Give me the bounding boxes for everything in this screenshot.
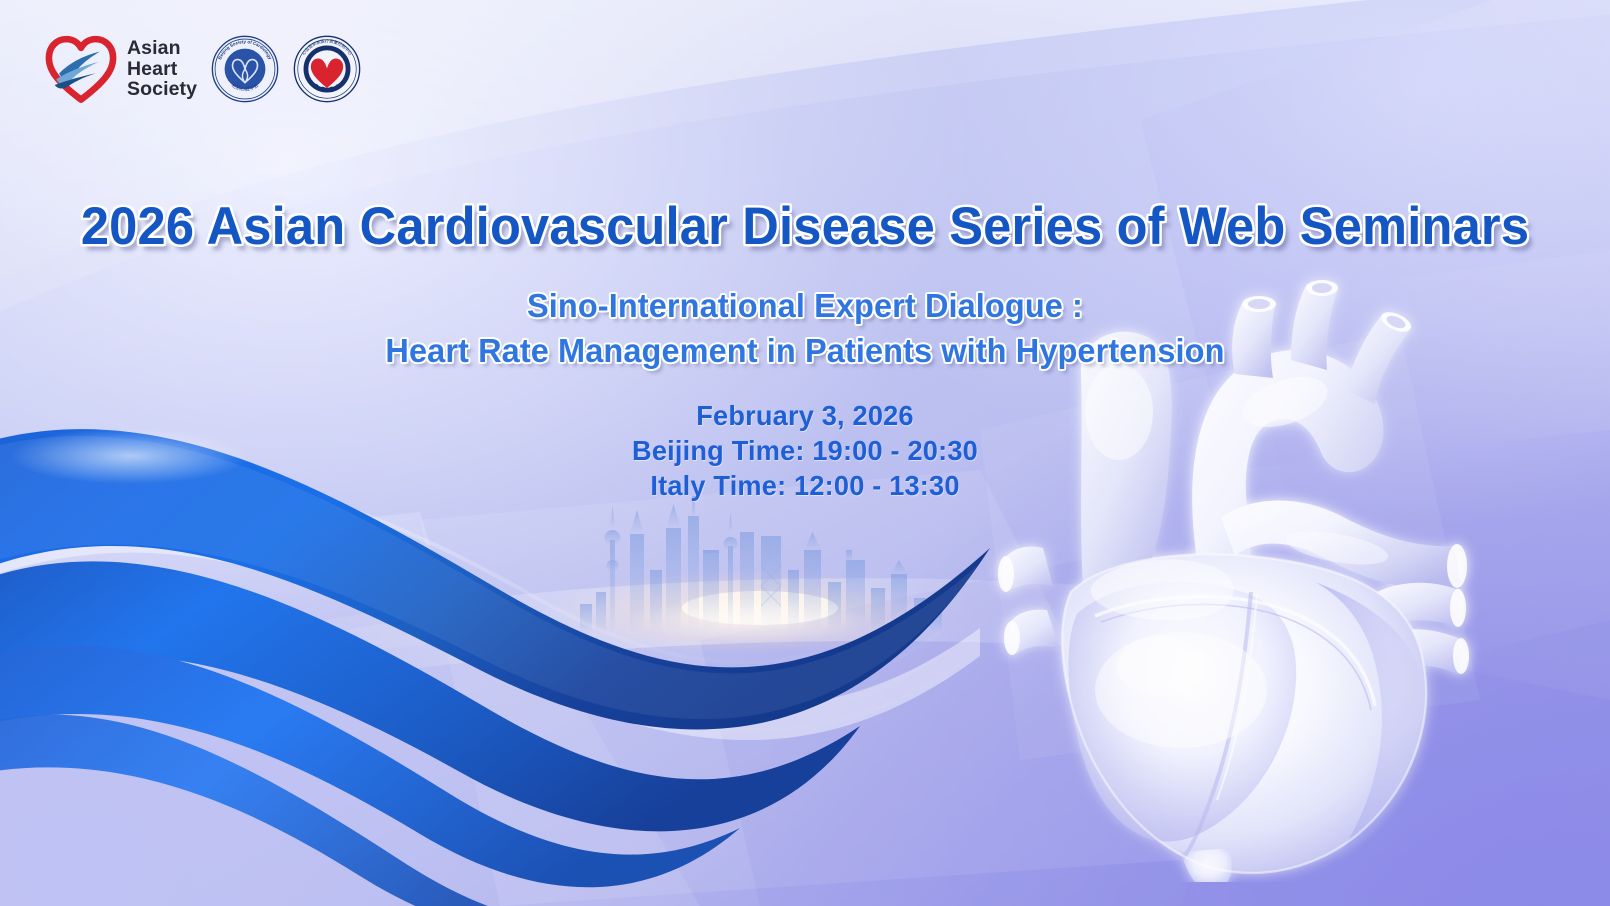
- ahs-line-1: Asian: [127, 38, 197, 59]
- schedule-beijing-time: Beijing Time: 19:00 - 20:30: [24, 433, 1586, 468]
- heart-wave-logo-icon: [44, 34, 118, 104]
- schedule-block: February 3, 2026 Beijing Time: 19:00 - 2…: [24, 398, 1586, 503]
- ahs-line-3: Society: [127, 79, 197, 100]
- schedule-italy-time: Italy Time: 12:00 - 13:30: [24, 468, 1586, 503]
- beijing-society-of-cardiology-icon: Beijing Society of Cardiology 北京心脏学会: [211, 35, 279, 103]
- logo-bar: Asian Heart Society Beijing Society of C…: [44, 34, 361, 104]
- subtitle-line-1: Sino-International Expert Dialogue :: [527, 288, 1083, 325]
- asian-heart-society-label: Asian Heart Society: [127, 38, 197, 100]
- asian-heart-society-logo: Asian Heart Society: [44, 34, 197, 104]
- page-title: 2026 Asian Cardiovascular Disease Series…: [36, 196, 1574, 257]
- subtitle-line-2: Heart Rate Management in Patients with H…: [24, 329, 1586, 374]
- schedule-date: February 3, 2026: [24, 398, 1586, 433]
- subtitle: Sino-International Expert Dialogue : Hea…: [24, 284, 1586, 374]
- cdqi-icon: 心血管疾病医疗质量控制中心 C D Q I: [293, 35, 361, 103]
- ahs-line-2: Heart: [127, 59, 197, 80]
- seminar-poster: Asian Heart Society Beijing Society of C…: [0, 0, 1610, 906]
